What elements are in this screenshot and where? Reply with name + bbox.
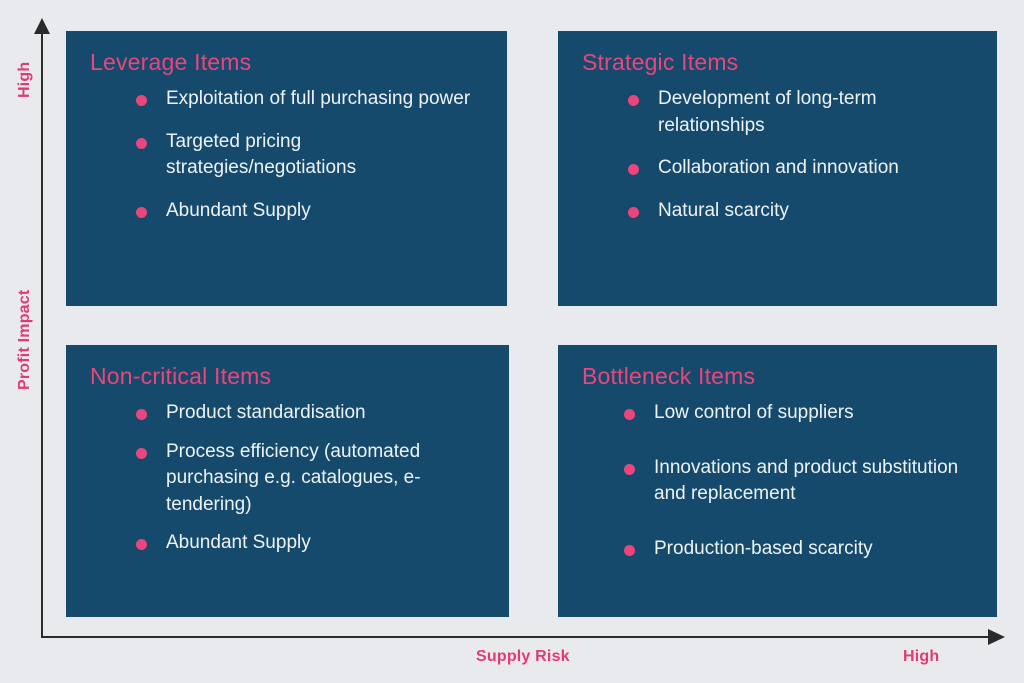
quadrant-non-critical-title: Non-critical Items xyxy=(66,345,509,396)
bullet-icon xyxy=(624,409,635,420)
y-axis-line xyxy=(41,30,43,638)
x-axis-line xyxy=(42,636,997,638)
list-item-label: Low control of suppliers xyxy=(654,402,854,423)
quadrant-non-critical-list: Product standardisation Process efficien… xyxy=(66,396,509,557)
list-item: Exploitation of full purchasing power xyxy=(134,86,493,113)
bullet-icon xyxy=(136,448,147,459)
bullet-icon xyxy=(136,95,147,106)
list-item: Natural scarcity xyxy=(626,198,985,225)
quadrant-non-critical: Non-critical Items Product standardisati… xyxy=(66,345,509,617)
quadrant-bottleneck: Bottleneck Items Low control of supplier… xyxy=(558,345,997,617)
kraljic-matrix-diagram: High Profit Impact Supply Risk High Leve… xyxy=(0,0,1024,683)
bullet-icon xyxy=(136,207,147,218)
list-item-label: Development of long-term relationships xyxy=(658,88,877,136)
quadrant-bottleneck-list: Low control of suppliers Innovations and… xyxy=(558,396,997,562)
list-item-label: Collaboration and innovation xyxy=(658,157,899,178)
list-item: Low control of suppliers xyxy=(622,400,987,427)
bullet-icon xyxy=(628,207,639,218)
list-item: Collaboration and innovation xyxy=(626,155,985,182)
x-axis-high-label: High xyxy=(903,648,939,666)
bullet-icon xyxy=(624,545,635,556)
bullet-icon xyxy=(624,464,635,475)
y-axis-high-label: High xyxy=(16,62,34,98)
quadrant-strategic-title: Strategic Items xyxy=(558,31,997,82)
list-item: Process efficiency (automated purchasing… xyxy=(134,439,499,519)
quadrant-strategic-list: Development of long-term relationships C… xyxy=(558,82,997,224)
list-item: Product standardisation xyxy=(134,400,499,427)
list-item: Production-based scarcity xyxy=(622,536,987,563)
list-item: Abundant Supply xyxy=(134,530,499,557)
y-axis-title: Profit Impact xyxy=(16,290,34,390)
list-item: Innovations and product substitution and… xyxy=(622,455,987,508)
quadrant-bottleneck-title: Bottleneck Items xyxy=(558,345,997,396)
x-axis-title: Supply Risk xyxy=(476,648,570,666)
x-axis-arrow-icon xyxy=(988,629,1005,645)
list-item: Development of long-term relationships xyxy=(626,86,985,139)
list-item: Abundant Supply xyxy=(134,198,493,225)
bullet-icon xyxy=(628,164,639,175)
list-item-label: Natural scarcity xyxy=(658,200,789,221)
list-item: Targeted pricing strategies/negotiations xyxy=(134,129,493,182)
quadrant-leverage-list: Exploitation of full purchasing power Ta… xyxy=(66,82,507,224)
list-item-label: Targeted pricing strategies/negotiations xyxy=(166,131,356,179)
quadrant-leverage-title: Leverage Items xyxy=(66,31,507,82)
bullet-icon xyxy=(136,539,147,550)
list-item-label: Exploitation of full purchasing power xyxy=(166,88,470,109)
quadrant-leverage: Leverage Items Exploitation of full purc… xyxy=(66,31,507,306)
bullet-icon xyxy=(136,409,147,420)
list-item-label: Production-based scarcity xyxy=(654,538,873,559)
y-axis-arrow-icon xyxy=(34,18,50,34)
list-item-label: Abundant Supply xyxy=(166,532,311,553)
bullet-icon xyxy=(136,138,147,149)
list-item-label: Process efficiency (automated purchasing… xyxy=(166,441,421,515)
bullet-icon xyxy=(628,95,639,106)
list-item-label: Product standardisation xyxy=(166,402,366,423)
list-item-label: Abundant Supply xyxy=(166,200,311,221)
quadrant-strategic: Strategic Items Development of long-term… xyxy=(558,31,997,306)
list-item-label: Innovations and product substitution and… xyxy=(654,457,958,505)
